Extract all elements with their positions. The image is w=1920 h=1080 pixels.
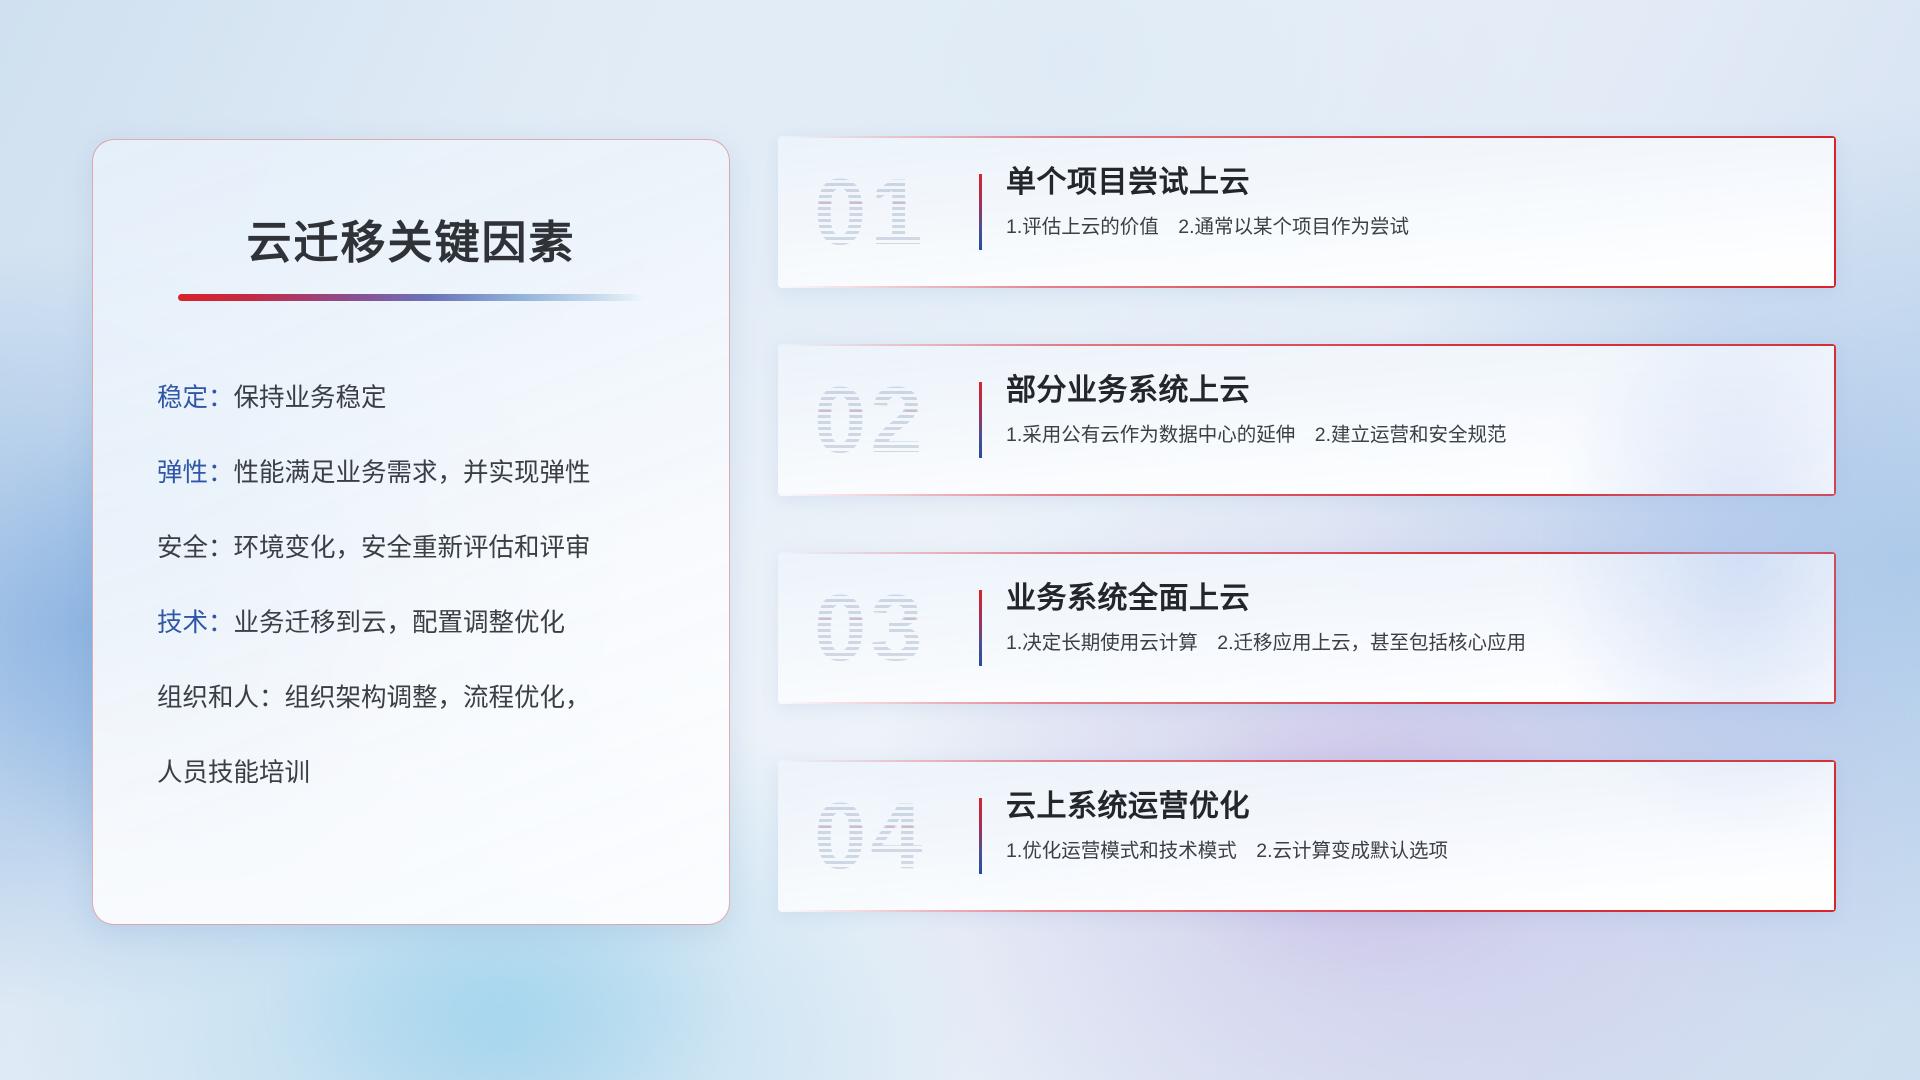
card-text-block: 单个项目尝试上云 1.评估上云的价值 2.通常以某个项目作为尝试 (1006, 165, 1810, 240)
card-right-border (1834, 136, 1836, 288)
factor-desc: 组织架构调整，流程优化， (285, 684, 591, 712)
card-right-border (1834, 344, 1836, 496)
step-number-watermark: 03 (814, 581, 927, 675)
title-underline-gradient (178, 294, 644, 301)
list-item: 弹性：性能满足业务需求，并实现弹性 (157, 460, 685, 487)
factor-label: 安全： (157, 534, 234, 562)
migration-steps-list: 01 单个项目尝试上云 1.评估上云的价值 2.通常以某个项目作为尝试 02 部… (778, 136, 1836, 912)
step-number-watermark: 02 (814, 373, 927, 467)
list-item: 安全：环境变化，安全重新评估和评审 (157, 535, 685, 562)
list-item: 技术：业务迁移到云，配置调整优化 (157, 610, 685, 637)
factor-desc: 人员技能培训 (157, 759, 310, 787)
card-text-block: 业务系统全面上云 1.决定长期使用云计算 2.迁移应用上云，甚至包括核心应用 (1006, 581, 1810, 656)
step-description: 1.决定长期使用云计算 2.迁移应用上云，甚至包括核心应用 (1006, 632, 1810, 655)
step-description: 1.采用公有云作为数据中心的延伸 2.建立运营和安全规范 (1006, 424, 1810, 447)
step-title: 云上系统运营优化 (1006, 789, 1810, 824)
step-description: 1.优化运营模式和技术模式 2.云计算变成默认选项 (1006, 840, 1810, 863)
card-bottom-border (778, 286, 1836, 288)
step-title: 部分业务系统上云 (1006, 373, 1810, 408)
step-title: 业务系统全面上云 (1006, 581, 1810, 616)
step-description: 1.评估上云的价值 2.通常以某个项目作为尝试 (1006, 216, 1810, 239)
card-accent-divider (979, 590, 982, 666)
card-accent-divider (979, 174, 982, 250)
step-card-04[interactable]: 04 云上系统运营优化 1.优化运营模式和技术模式 2.云计算变成默认选项 (778, 760, 1836, 912)
factor-desc: 环境变化，安全重新评估和评审 (234, 534, 591, 562)
card-top-border (778, 136, 1836, 138)
factor-desc: 保持业务稳定 (234, 384, 387, 412)
card-text-block: 部分业务系统上云 1.采用公有云作为数据中心的延伸 2.建立运营和安全规范 (1006, 373, 1810, 448)
card-accent-divider (979, 382, 982, 458)
card-text-block: 云上系统运营优化 1.优化运营模式和技术模式 2.云计算变成默认选项 (1006, 789, 1810, 864)
card-accent-divider (979, 798, 982, 874)
factor-label: 稳定： (157, 384, 234, 412)
step-title: 单个项目尝试上云 (1006, 165, 1810, 200)
step-card-01[interactable]: 01 单个项目尝试上云 1.评估上云的价值 2.通常以某个项目作为尝试 (778, 136, 1836, 288)
factor-label: 弹性： (157, 459, 234, 487)
list-item-continuation: 人员技能培训 (157, 760, 685, 787)
card-bottom-border (778, 494, 1836, 496)
step-number-watermark: 01 (814, 165, 927, 259)
card-top-border (778, 344, 1836, 346)
card-bottom-border (778, 910, 1836, 912)
key-factors-panel: 云迁移关键因素 稳定：保持业务稳定 弹性：性能满足业务需求，并实现弹性 安全：环… (92, 139, 730, 925)
page-title: 云迁移关键因素 (137, 218, 685, 268)
card-top-border (778, 760, 1836, 762)
factor-label: 组织和人： (157, 684, 285, 712)
step-card-03[interactable]: 03 业务系统全面上云 1.决定长期使用云计算 2.迁移应用上云，甚至包括核心应… (778, 552, 1836, 704)
factor-label: 技术： (157, 609, 234, 637)
card-right-border (1834, 760, 1836, 912)
list-item: 稳定：保持业务稳定 (157, 385, 685, 412)
card-bottom-border (778, 702, 1836, 704)
slide-canvas: 云迁移关键因素 稳定：保持业务稳定 弹性：性能满足业务需求，并实现弹性 安全：环… (0, 0, 1920, 1080)
factor-desc: 性能满足业务需求，并实现弹性 (234, 459, 591, 487)
factor-list: 稳定：保持业务稳定 弹性：性能满足业务需求，并实现弹性 安全：环境变化，安全重新… (137, 385, 685, 787)
list-item: 组织和人：组织架构调整，流程优化， (157, 685, 685, 712)
step-number-watermark: 04 (814, 789, 927, 883)
step-card-02[interactable]: 02 部分业务系统上云 1.采用公有云作为数据中心的延伸 2.建立运营和安全规范 (778, 344, 1836, 496)
card-top-border (778, 552, 1836, 554)
factor-desc: 业务迁移到云，配置调整优化 (234, 609, 566, 637)
card-right-border (1834, 552, 1836, 704)
